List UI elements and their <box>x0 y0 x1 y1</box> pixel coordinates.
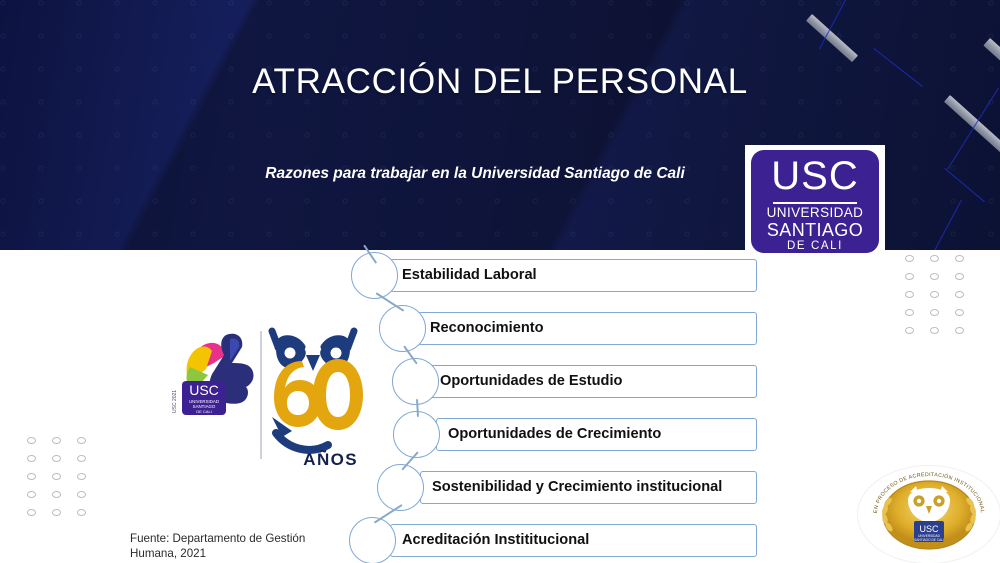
usc-badge: USC UNIVERSIDAD SANTIAGO DE CALI <box>751 150 879 253</box>
decor-dot <box>930 327 939 334</box>
usc-line-santiago: SANTIAGO <box>751 220 879 241</box>
anniversary-logo-artwork: USC UNIVERSIDAD SANTIAGO DE CALI USC 202… <box>160 313 365 476</box>
decor-dot <box>52 509 61 516</box>
reason-label: Oportunidades de Crecimiento <box>448 418 661 451</box>
usc-line-universidad: UNIVERSIDAD <box>751 205 879 220</box>
decor-dot <box>955 327 964 334</box>
decor-dot <box>52 437 61 444</box>
reason-label: Sostenibilidad y Crecimiento institucion… <box>432 471 722 504</box>
svg-text:DE CALI: DE CALI <box>196 409 212 414</box>
slide-canvas: ATRACCIÓN DEL PERSONAL Razones para trab… <box>0 0 1000 563</box>
svg-text:USC: USC <box>919 524 939 534</box>
reason-label: Oportunidades de Estudio <box>440 365 622 398</box>
decor-dot <box>77 491 86 498</box>
decor-dot <box>930 309 939 316</box>
decor-dot <box>905 255 914 262</box>
dot-grid-right <box>905 255 980 345</box>
usc-logo-card: USC UNIVERSIDAD SANTIAGO DE CALI <box>745 145 885 255</box>
decor-dot <box>52 455 61 462</box>
svg-text:USC: USC <box>189 382 219 398</box>
decor-dot <box>27 473 36 480</box>
decor-dot <box>955 255 964 262</box>
decor-dot <box>930 255 939 262</box>
decor-dot <box>955 309 964 316</box>
decor-dot <box>905 291 914 298</box>
usc-line-de-cali: DE CALI <box>751 240 879 252</box>
decor-dot <box>52 491 61 498</box>
decor-dot <box>955 291 964 298</box>
svg-text:SANTIAGO DE CALI: SANTIAGO DE CALI <box>914 538 944 542</box>
accreditation-seal: USC UNIVERSIDAD SANTIAGO DE CALI EN PROC… <box>858 466 1000 563</box>
seal-artwork: USC UNIVERSIDAD SANTIAGO DE CALI EN PROC… <box>858 466 1000 563</box>
decor-dot <box>77 437 86 444</box>
decor-dot <box>905 273 914 280</box>
page-title: ATRACCIÓN DEL PERSONAL <box>0 62 1000 102</box>
reason-bullet-circle[interactable] <box>349 517 396 563</box>
decor-dot <box>77 509 86 516</box>
svg-text:USC 2021: USC 2021 <box>172 390 178 413</box>
reason-label: Acreditación Instititucional <box>402 524 589 557</box>
reason-label: Reconocimiento <box>430 312 544 345</box>
decor-dot <box>52 473 61 480</box>
usc-rule <box>773 202 857 204</box>
anniversary-logo: USC UNIVERSIDAD SANTIAGO DE CALI USC 202… <box>160 313 365 476</box>
decor-dot <box>905 309 914 316</box>
decor-dot <box>27 491 36 498</box>
decor-dot <box>77 473 86 480</box>
decor-dot <box>905 327 914 334</box>
decor-dot <box>930 291 939 298</box>
decor-dot <box>955 273 964 280</box>
decor-dot <box>77 455 86 462</box>
source-footnote: Fuente: Departamento de Gestión Humana, … <box>130 531 330 561</box>
page-subtitle: Razones para trabajar en la Universidad … <box>255 163 695 184</box>
decor-dot <box>27 509 36 516</box>
decor-dot <box>930 273 939 280</box>
reason-label: Estabilidad Laboral <box>402 259 537 292</box>
usc-acronym: USC <box>751 154 879 198</box>
decor-dot <box>27 437 36 444</box>
decor-dot <box>27 455 36 462</box>
svg-text:AÑOS: AÑOS <box>303 449 358 469</box>
dot-grid-left <box>27 437 102 527</box>
